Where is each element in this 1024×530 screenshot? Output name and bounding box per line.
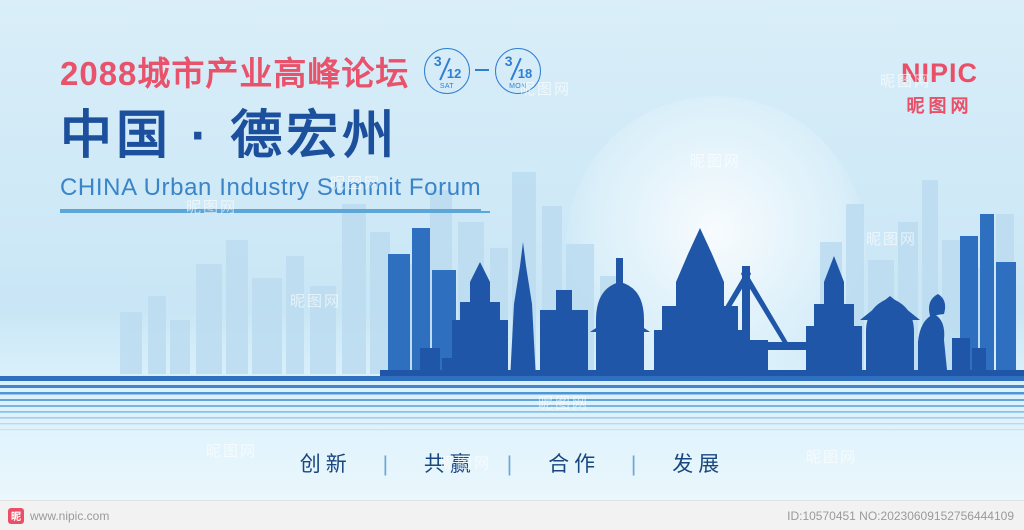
site-url[interactable]: www.nipic.com (30, 509, 109, 523)
slogan-separator-3: | (631, 453, 641, 476)
footer-bar: 昵 www.nipic.com ID:10570451 NO:202306091… (0, 500, 1024, 530)
title-chinese: 中国 · 德宏州 (60, 108, 680, 164)
slogan-word-4: 发展 (672, 453, 724, 476)
poster-canvas: 2088城市产业高峰论坛 3 12 SAT 3 18 MON 中国 · 德宏州 … (0, 0, 1024, 500)
slogan-word-2: 共赢 (424, 453, 476, 476)
date-badge-start: 3 12 SAT (424, 48, 470, 94)
slogan-word-3: 合作 (548, 453, 600, 476)
brand-name-cn: 昵图网 (901, 92, 978, 118)
footer-left: 昵 www.nipic.com (0, 508, 109, 524)
headline-red: 2088城市产业高峰论坛 (60, 57, 409, 90)
water-lines (0, 376, 1024, 438)
site-logo-icon: 昵 (8, 508, 24, 524)
date-start-day: 12 (447, 66, 461, 81)
title-underline (60, 211, 490, 213)
slogan-word-1: 创新 (300, 453, 352, 476)
title-block: 2088城市产业高峰论坛 3 12 SAT 3 18 MON 中国 · 德宏州 … (60, 50, 680, 213)
date-badges: 3 12 SAT 3 18 MON (424, 48, 541, 94)
date-start-weekday: SAT (425, 83, 469, 90)
slogan-separator-1: | (383, 453, 393, 476)
date-end-day: 18 (518, 66, 532, 81)
slogan-row: 创新 | 共赢 | 合作 | 发展 (0, 448, 1024, 478)
brand-logo: NIPIC 昵图网 (901, 58, 978, 118)
slogan-separator-2: | (507, 453, 517, 476)
date-end-month: 3 (505, 53, 513, 69)
date-range-dash-icon (475, 69, 489, 71)
date-badge-end: 3 18 MON (495, 48, 541, 94)
brand-name-en: NIPIC (901, 58, 978, 89)
date-end-weekday: MON (496, 83, 540, 90)
date-start-month: 3 (434, 53, 442, 69)
title-english: CHINA Urban Industry Summit Forum (60, 174, 481, 211)
footer-id: ID:10570451 NO:20230609152756444109 (787, 509, 1024, 523)
